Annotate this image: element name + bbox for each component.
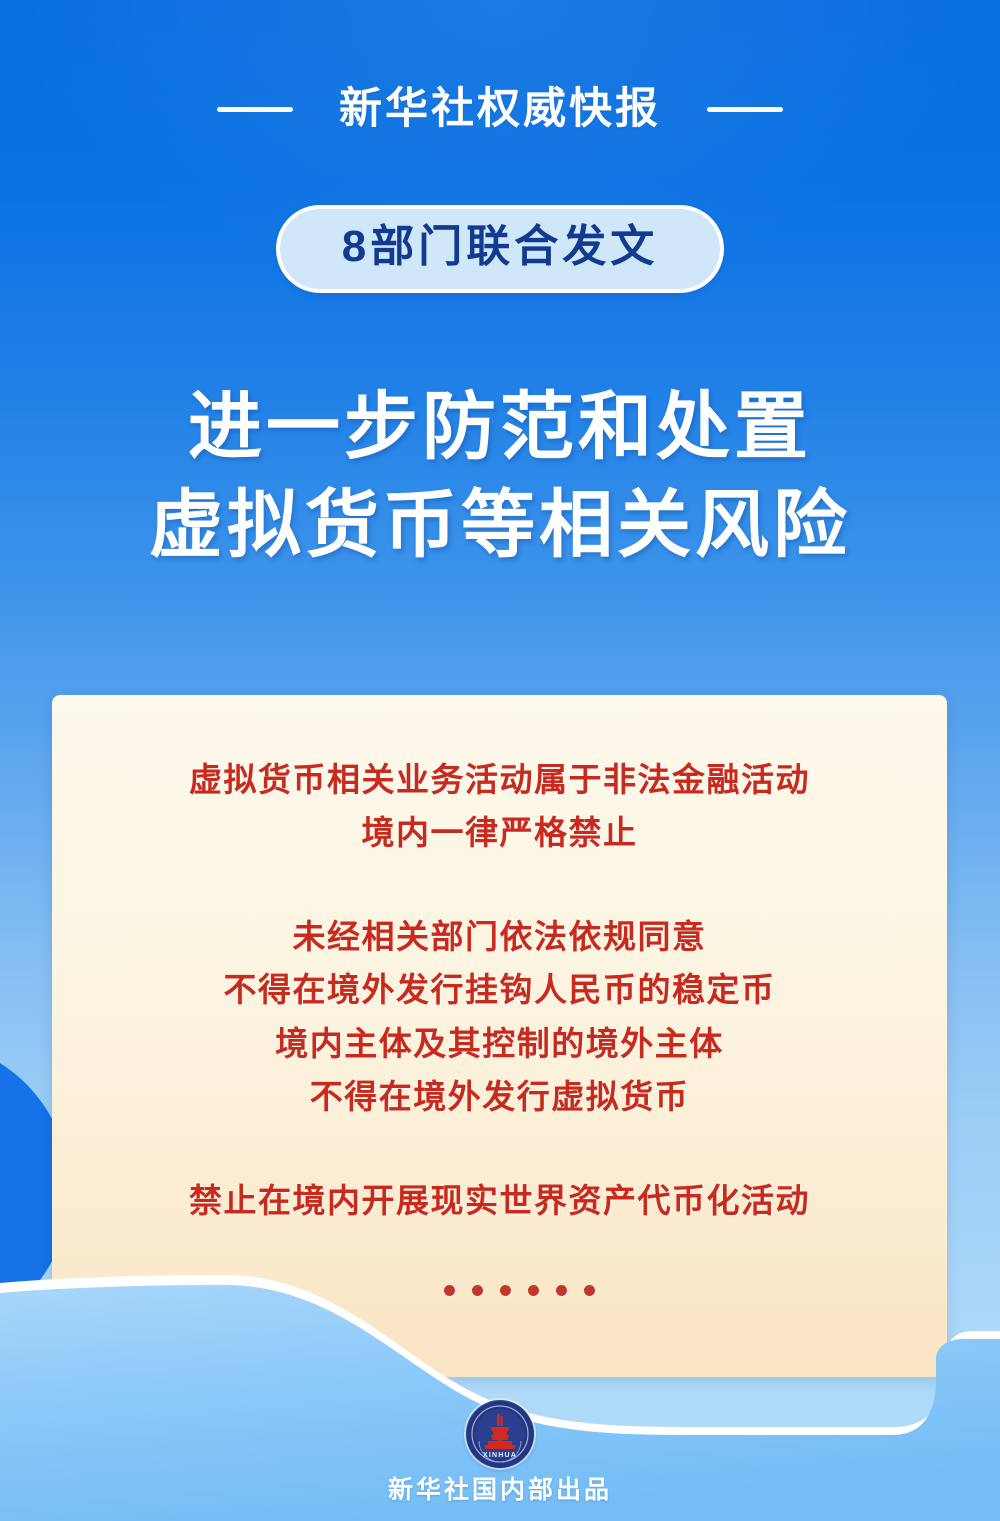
title-line-1: 进一步防范和处置 bbox=[0, 378, 1000, 476]
stanza-2-line-1: 未经相关部门依法依规同意 bbox=[92, 910, 907, 963]
title-line-2: 虚拟货币等相关风险 bbox=[0, 476, 1000, 574]
stanza-2-line-3: 境内主体及其控制的境外主体 bbox=[92, 1017, 907, 1070]
stanza-2-line-2: 不得在境外发行挂钩人民币的稳定币 bbox=[92, 963, 907, 1016]
header-rule-left-icon bbox=[217, 107, 293, 112]
header: 新华社权威快报 bbox=[0, 88, 1000, 131]
stanza-3-line-1: 禁止在境内开展现实世界资产代币化活动 bbox=[92, 1174, 907, 1227]
header-rule-right-icon bbox=[707, 107, 783, 112]
badge-container: 8部门联合发文 bbox=[0, 205, 1000, 293]
content-card-body: 虚拟货币相关业务活动属于非法金融活动 境内一律严格禁止 未经相关部门依法依规同意… bbox=[52, 695, 947, 1296]
subject-badge: 8部门联合发文 bbox=[276, 205, 724, 293]
stanza-2-line-4: 不得在境外发行虚拟货币 bbox=[92, 1070, 907, 1123]
svg-text:XINHUA: XINHUA bbox=[483, 1452, 517, 1459]
stanza-1: 虚拟货币相关业务活动属于非法金融活动 境内一律严格禁止 bbox=[92, 753, 907, 860]
stanza-1-line-2: 境内一律严格禁止 bbox=[92, 806, 907, 859]
footer-credit: 新华社国内部出品 bbox=[388, 1478, 612, 1503]
poster-root: 新华社权威快报 8部门联合发文 进一步防范和处置 虚拟货币等相关风险 虚拟货币相… bbox=[0, 0, 1000, 1521]
stanza-1-line-1: 虚拟货币相关业务活动属于非法金融活动 bbox=[92, 753, 907, 806]
stanza-2: 未经相关部门依法依规同意 不得在境外发行挂钩人民币的稳定币 境内主体及其控制的境… bbox=[92, 910, 907, 1124]
stanza-3: 禁止在境内开展现实世界资产代币化活动 bbox=[92, 1174, 907, 1227]
footer: XINHUA 新华社国内部出品 bbox=[0, 1400, 1000, 1503]
xinhua-emblem-icon: XINHUA bbox=[466, 1400, 534, 1468]
page-title: 进一步防范和处置 虚拟货币等相关风险 bbox=[0, 378, 1000, 573]
header-title: 新华社权威快报 bbox=[339, 88, 661, 131]
